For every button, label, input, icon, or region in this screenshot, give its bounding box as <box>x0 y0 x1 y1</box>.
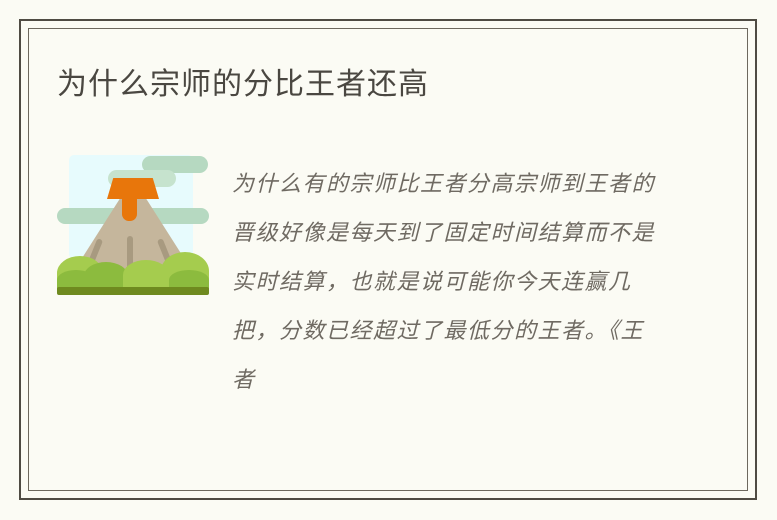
bush-shape <box>123 260 169 290</box>
lava-drip <box>122 195 137 221</box>
volcano-illustration <box>57 152 209 296</box>
page-title: 为什么宗师的分比王者还高 <box>57 66 429 104</box>
article-body-text: 为什么有的宗师比王者分高宗师到王者的晋级好像是每天到了固定时间结算而不是实时结算… <box>232 160 657 405</box>
ground-strip <box>57 287 209 295</box>
article-content: 为什么有的宗师比王者分高宗师到王者的晋级好像是每天到了固定时间结算而不是实时结算… <box>57 152 697 402</box>
page-root: 为什么宗师的分比王者还高 为什么有的宗师比王者分高宗师到王者的晋级好像是每天到了… <box>0 0 777 520</box>
